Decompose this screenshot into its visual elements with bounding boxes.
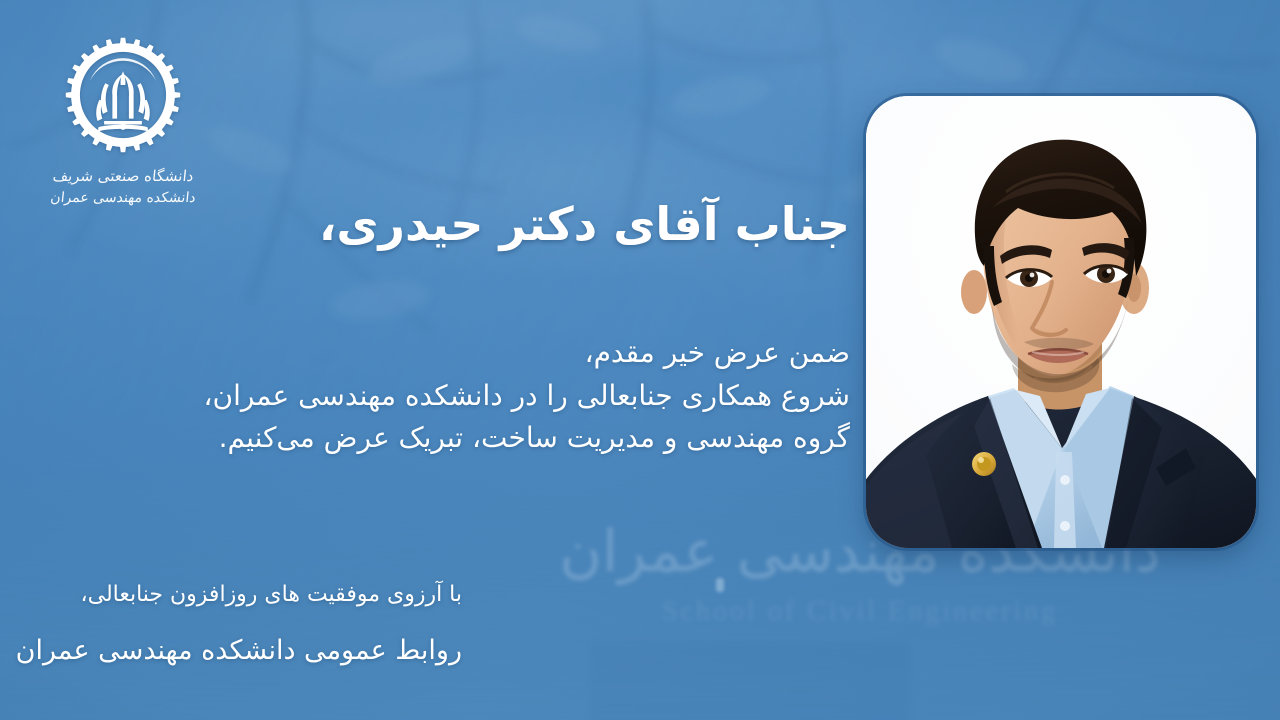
- body-line-2: شروع همکاری جنابعالی را در دانشکده مهندس…: [90, 375, 850, 418]
- closing-signature: روابط عمومی دانشکده مهندسی عمران: [0, 631, 462, 672]
- logo-university-line: دانشگاه صنعتی شریف: [47, 166, 199, 188]
- dr-heydari-portrait: [866, 96, 1256, 548]
- sharif-university-gear-emblem: [64, 36, 182, 154]
- greeting-body: ضمن عرض خیر مقدم، شروع همکاری جنابعالی ر…: [90, 332, 850, 460]
- logo-faculty-line: دانشکده مهندسی عمران: [47, 188, 199, 208]
- greeting-heading: جناب آقای دکتر حیدری،: [319, 196, 850, 254]
- closing-wish: با آرزوی موفقیت های روزافزون جنابعالی،: [0, 578, 462, 611]
- university-logo: دانشگاه صنعتی شریف دانشکده مهندسی عمران: [48, 36, 198, 208]
- university-logo-text: دانشگاه صنعتی شریف دانشکده مهندسی عمران: [48, 166, 198, 208]
- body-line-3: گروه مهندسی و مدیریت ساخت، تبریک عرض می‌…: [90, 417, 850, 460]
- body-line-1: ضمن عرض خیر مقدم،: [90, 332, 850, 375]
- portrait-photo-frame: [866, 96, 1256, 548]
- greeting-card: دانشکده مهندسی عمران School of Civil Eng…: [0, 0, 1280, 720]
- greeting-closing: با آرزوی موفقیت های روزافزون جنابعالی، ر…: [0, 578, 462, 672]
